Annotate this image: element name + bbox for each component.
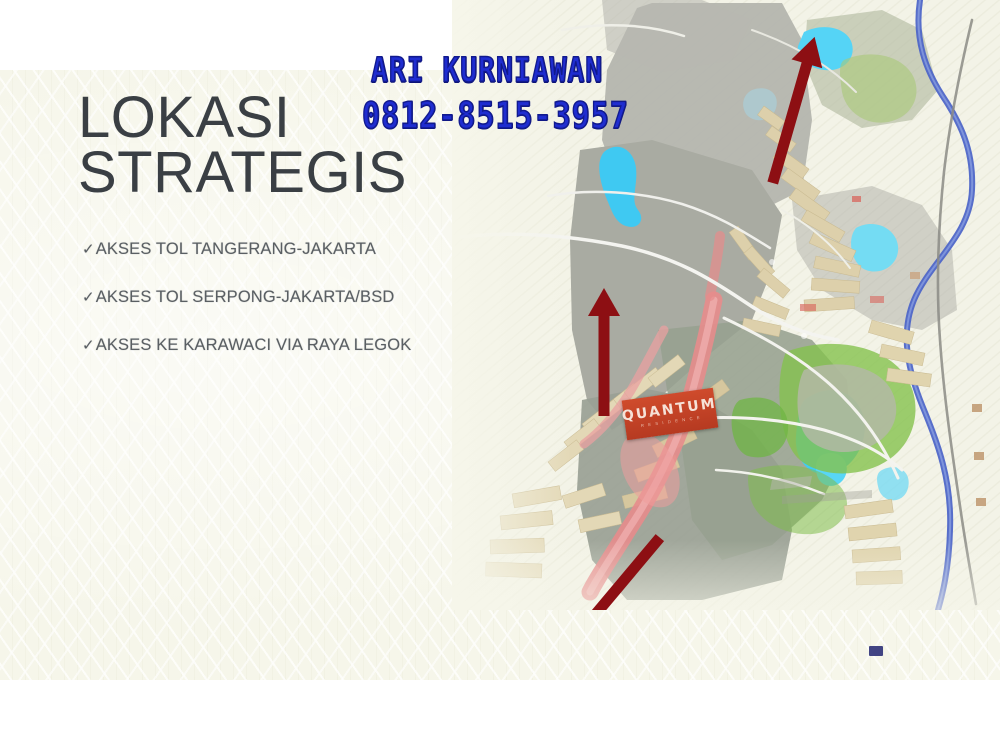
location-map xyxy=(452,0,1000,610)
page-title-line2: STRATEGIS xyxy=(78,145,498,200)
check-icon: ✓ xyxy=(82,289,95,306)
list-item-label: AKSES KE KARAWACI VIA RAYA LEGOK xyxy=(96,336,412,354)
map-bottom-fade xyxy=(452,540,1000,610)
corner-watermark xyxy=(869,646,883,656)
list-item-label: AKSES TOL TANGERANG-JAKARTA xyxy=(96,240,376,258)
map-svg xyxy=(452,0,1000,610)
map-body xyxy=(452,0,1000,610)
list-item: ✓AKSES KE KARAWACI VIA RAYA LEGOK xyxy=(82,336,482,355)
list-item: ✓AKSES TOL TANGERANG-JAKARTA xyxy=(82,240,482,259)
list-item: ✓AKSES TOL SERPONG-JAKARTA/BSD xyxy=(82,288,482,307)
list-item-label: AKSES TOL SERPONG-JAKARTA/BSD xyxy=(96,288,395,306)
page-title: LOKASI STRATEGIS xyxy=(78,90,498,200)
slide-canvas: QUANTUM R E S I D E N C E LOKASI STRATEG… xyxy=(0,0,1000,750)
feature-list: ✓AKSES TOL TANGERANG-JAKARTA ✓AKSES TOL … xyxy=(82,240,482,384)
check-icon: ✓ xyxy=(82,241,95,258)
text-panel: LOKASI STRATEGIS ✓AKSES TOL TANGERANG-JA… xyxy=(0,0,500,610)
check-icon: ✓ xyxy=(82,337,95,354)
